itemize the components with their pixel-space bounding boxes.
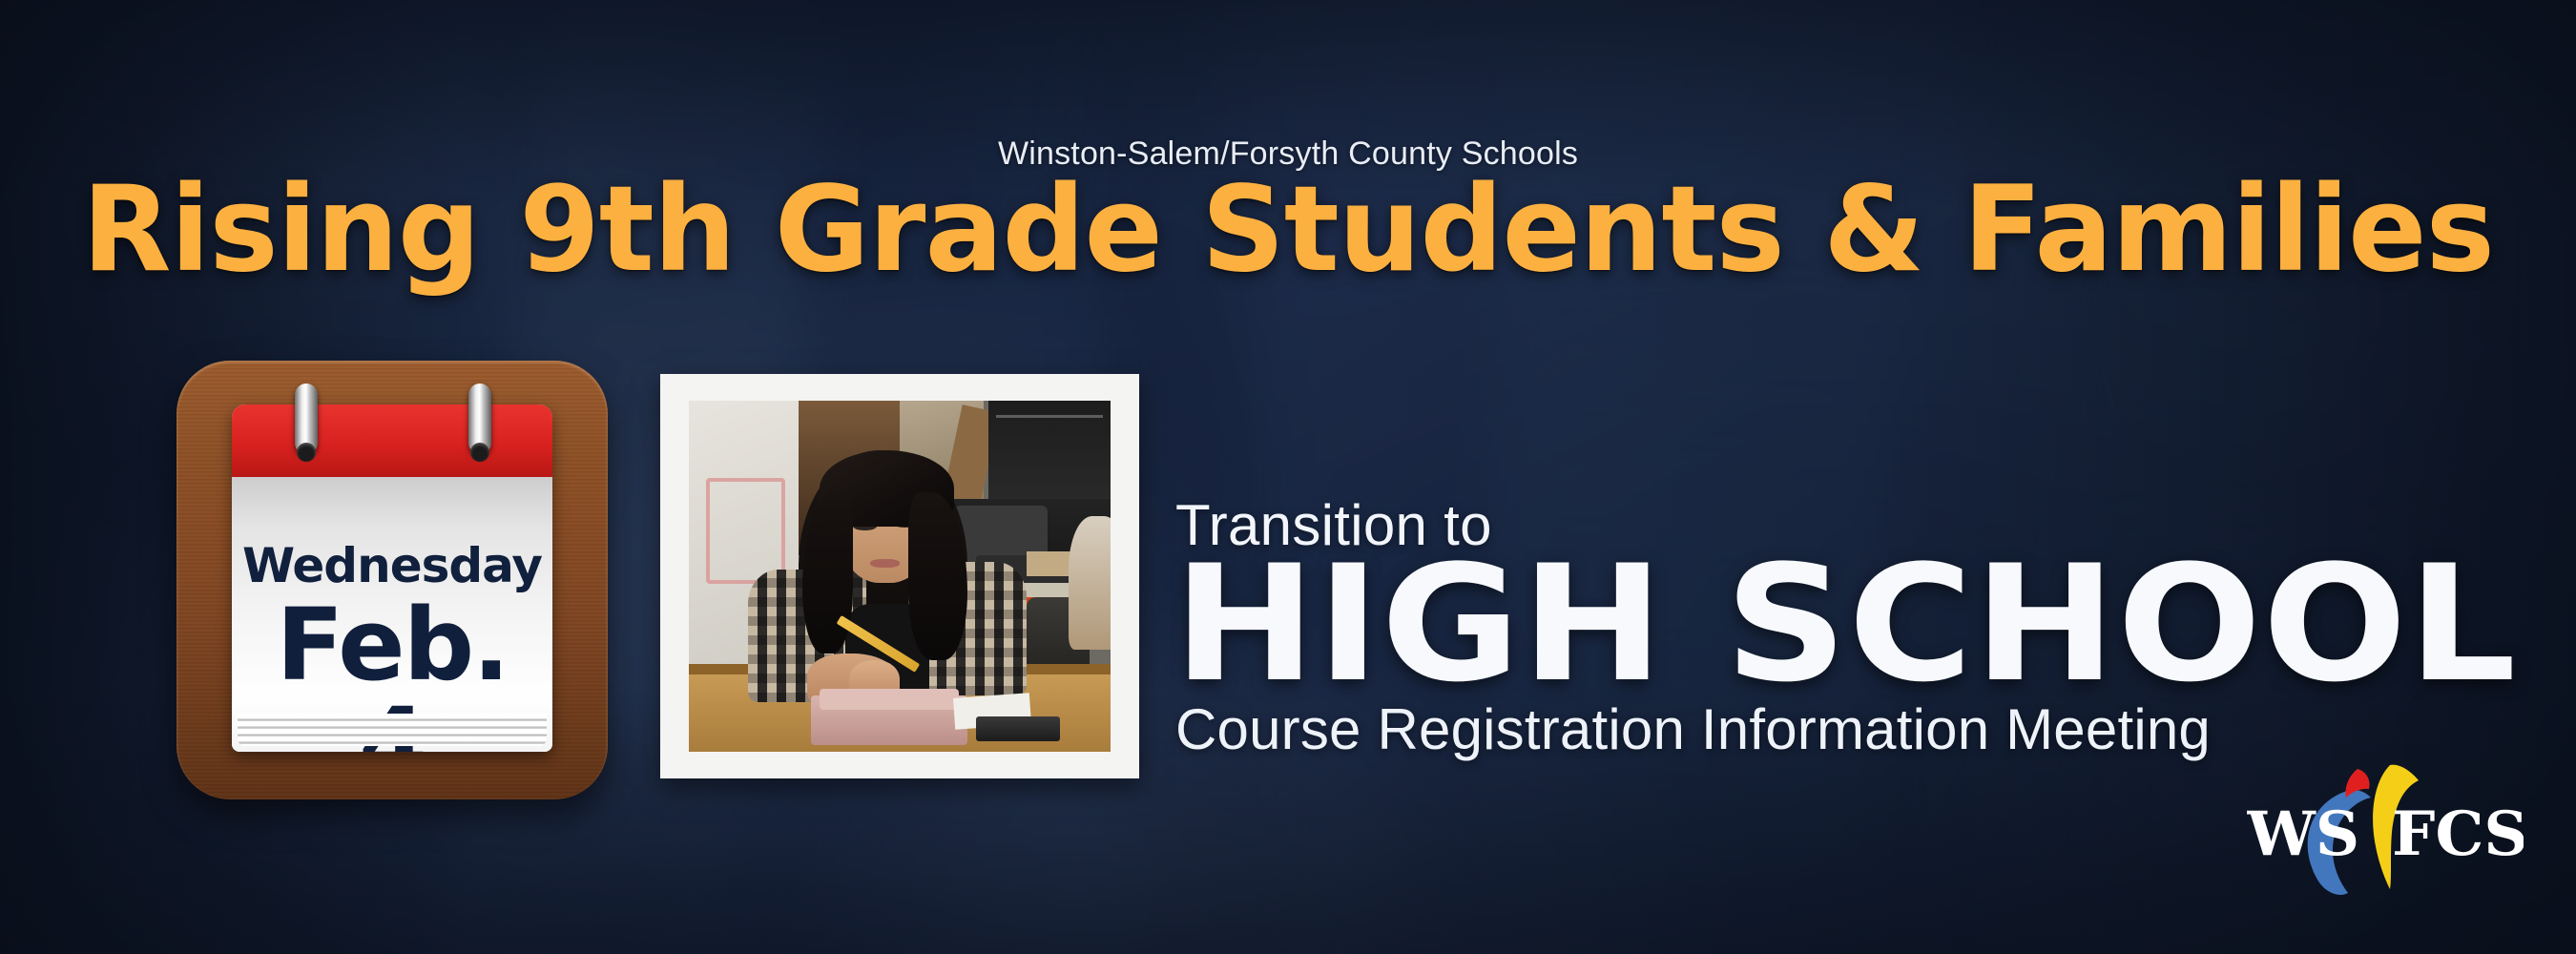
calendar-day-name: Wednesday [232,538,552,593]
calendar-ring-right [468,384,491,454]
event-title: HIGH SCHOOL [1174,544,2517,704]
photo-clay-block-top [820,689,959,710]
student-photo [689,401,1111,752]
wsfcs-logo: WS FCS [2247,763,2524,897]
calendar-page: Wednesday Feb. 4 [232,404,552,752]
calendar-icon: Wednesday Feb. 4 [177,361,608,799]
calendar-ring-left [295,384,318,454]
student-photo-frame [660,374,1139,778]
photo-wall-marking [706,478,785,584]
photo-background-person [1069,516,1111,650]
page-title: Rising 9th Grade Students & Families [26,168,2550,293]
calendar-header-band [232,404,552,479]
photo-student-lips [870,559,900,569]
promo-banner: Winston-Salem/Forsyth County Schools Ris… [0,0,2576,954]
photo-phone [976,716,1060,741]
logo-fcs-text: FCS [2392,798,2524,870]
event-subtitle: Course Registration Information Meeting [1175,696,2211,762]
logo-ws-text: WS [2247,798,2359,870]
calendar-page-stack [238,714,547,746]
